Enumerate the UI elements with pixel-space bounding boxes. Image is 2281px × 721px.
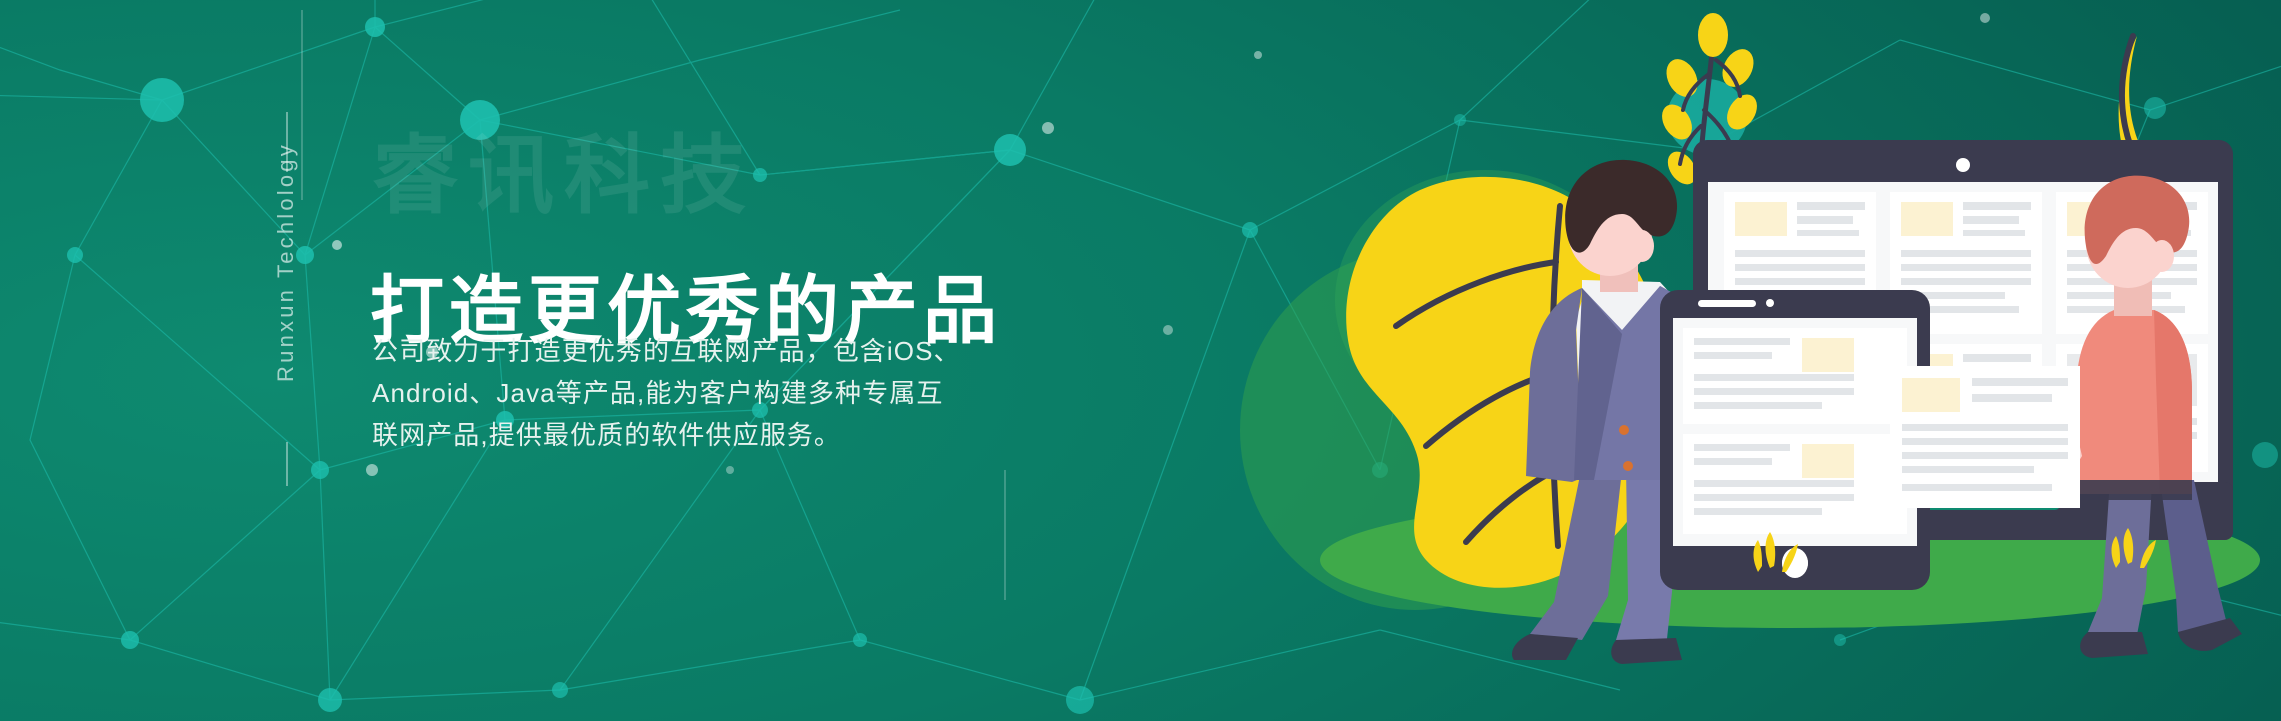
hero-banner: 睿讯科技 Runxun Techlology 打造更优秀的产品 公司致力于打造更…	[0, 0, 2281, 721]
document-sheet-right	[1890, 366, 2080, 508]
body-line-2: Android、Java等产品,能为客户构建多种专属互	[372, 372, 1162, 414]
vertical-brand-block: Runxun Techlology	[262, 112, 310, 412]
body-line-3: 联网产品,提供最优质的软件供应服务。	[372, 414, 1162, 456]
hero-illustration	[1230, 0, 2281, 721]
brand-ghost-text: 睿讯科技	[372, 133, 756, 219]
vertical-rule-bottom	[286, 442, 288, 486]
body-paragraph: 公司致力于打造更优秀的互联网产品，包含iOS、 Android、Java等产品,…	[372, 330, 1162, 456]
vertical-brand-text: Runxun Techlology	[273, 142, 299, 382]
body-line-1: 公司致力于打造更优秀的互联网产品，包含iOS、	[372, 330, 1162, 372]
phone-mockup	[1660, 290, 1930, 590]
